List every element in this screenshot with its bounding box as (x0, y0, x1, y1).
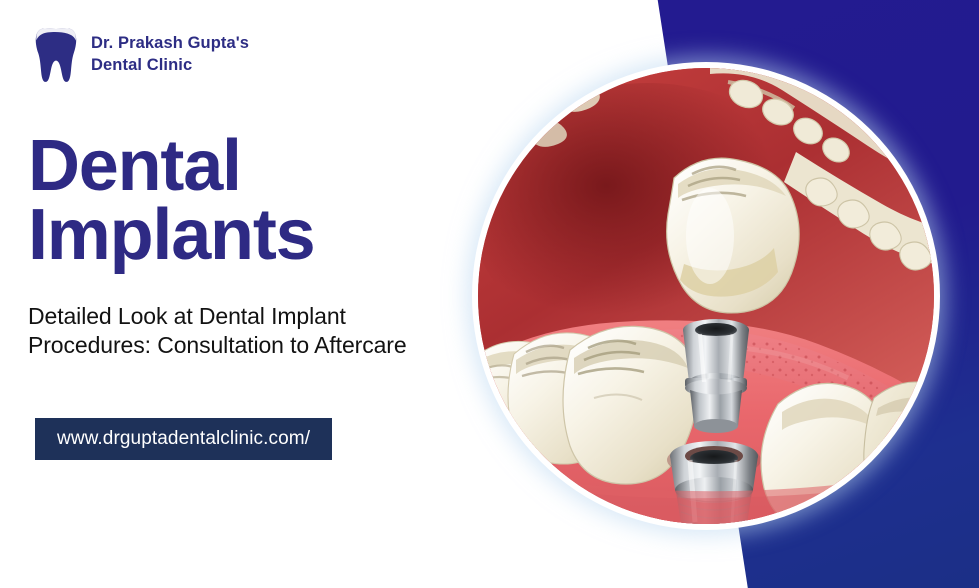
subtitle: Detailed Look at Dental Implant Procedur… (28, 302, 407, 361)
website-url-text: www.drguptadentalclinic.com/ (57, 428, 310, 450)
banner-root: Dr. Prakash Gupta's Dental Clinic Dental… (0, 0, 979, 588)
page-title: Dental Implants (28, 132, 314, 270)
headline-line2: Implants (28, 201, 314, 270)
headline-line1: Dental (28, 126, 241, 206)
tooth-icon (34, 26, 78, 84)
logo[interactable]: Dr. Prakash Gupta's Dental Clinic (34, 26, 249, 84)
implant-abutment (683, 319, 749, 433)
subtitle-line2: Procedures: Consultation to Aftercare (28, 331, 407, 360)
logo-text: Dr. Prakash Gupta's Dental Clinic (91, 33, 249, 77)
implant-crown (667, 158, 800, 313)
dental-implant-photo (478, 68, 934, 524)
logo-line1: Dr. Prakash Gupta's (91, 34, 249, 52)
subtitle-line1: Detailed Look at Dental Implant (28, 303, 346, 329)
website-url-button[interactable]: www.drguptadentalclinic.com/ (35, 418, 332, 460)
logo-line2: Dental Clinic (91, 55, 249, 77)
dental-implant-illustration (478, 68, 934, 524)
